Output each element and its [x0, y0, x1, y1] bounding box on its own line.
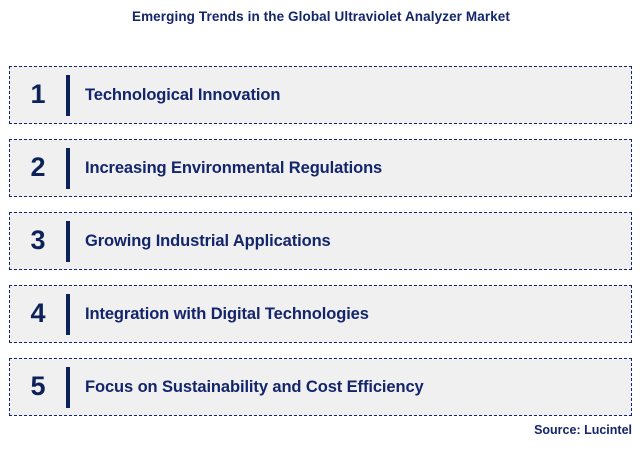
infographic-canvas: Emerging Trends in the Global Ultraviole… [0, 0, 642, 453]
list-item[interactable]: 5 Focus on Sustainability and Cost Effic… [9, 358, 632, 416]
page-title: Emerging Trends in the Global Ultraviole… [0, 8, 642, 26]
trend-label: Integration with Digital Technologies [70, 304, 631, 324]
trend-label: Technological Innovation [70, 85, 631, 105]
trend-rank-number: 2 [10, 154, 66, 183]
list-item[interactable]: 3 Growing Industrial Applications [9, 212, 632, 270]
trend-rank-number: 1 [10, 81, 66, 110]
trend-rank-number: 3 [10, 227, 66, 256]
list-item[interactable]: 1 Technological Innovation [9, 66, 632, 124]
list-item[interactable]: 4 Integration with Digital Technologies [9, 285, 632, 343]
trend-label: Growing Industrial Applications [70, 231, 631, 251]
trend-rank-number: 4 [10, 300, 66, 329]
trend-label: Focus on Sustainability and Cost Efficie… [70, 377, 631, 397]
trend-list: 1 Technological Innovation 2 Increasing … [9, 66, 632, 416]
trend-label: Increasing Environmental Regulations [70, 158, 631, 178]
source-attribution: Source: Lucintel [534, 423, 632, 437]
list-item[interactable]: 2 Increasing Environmental Regulations [9, 139, 632, 197]
trend-rank-number: 5 [10, 373, 66, 402]
